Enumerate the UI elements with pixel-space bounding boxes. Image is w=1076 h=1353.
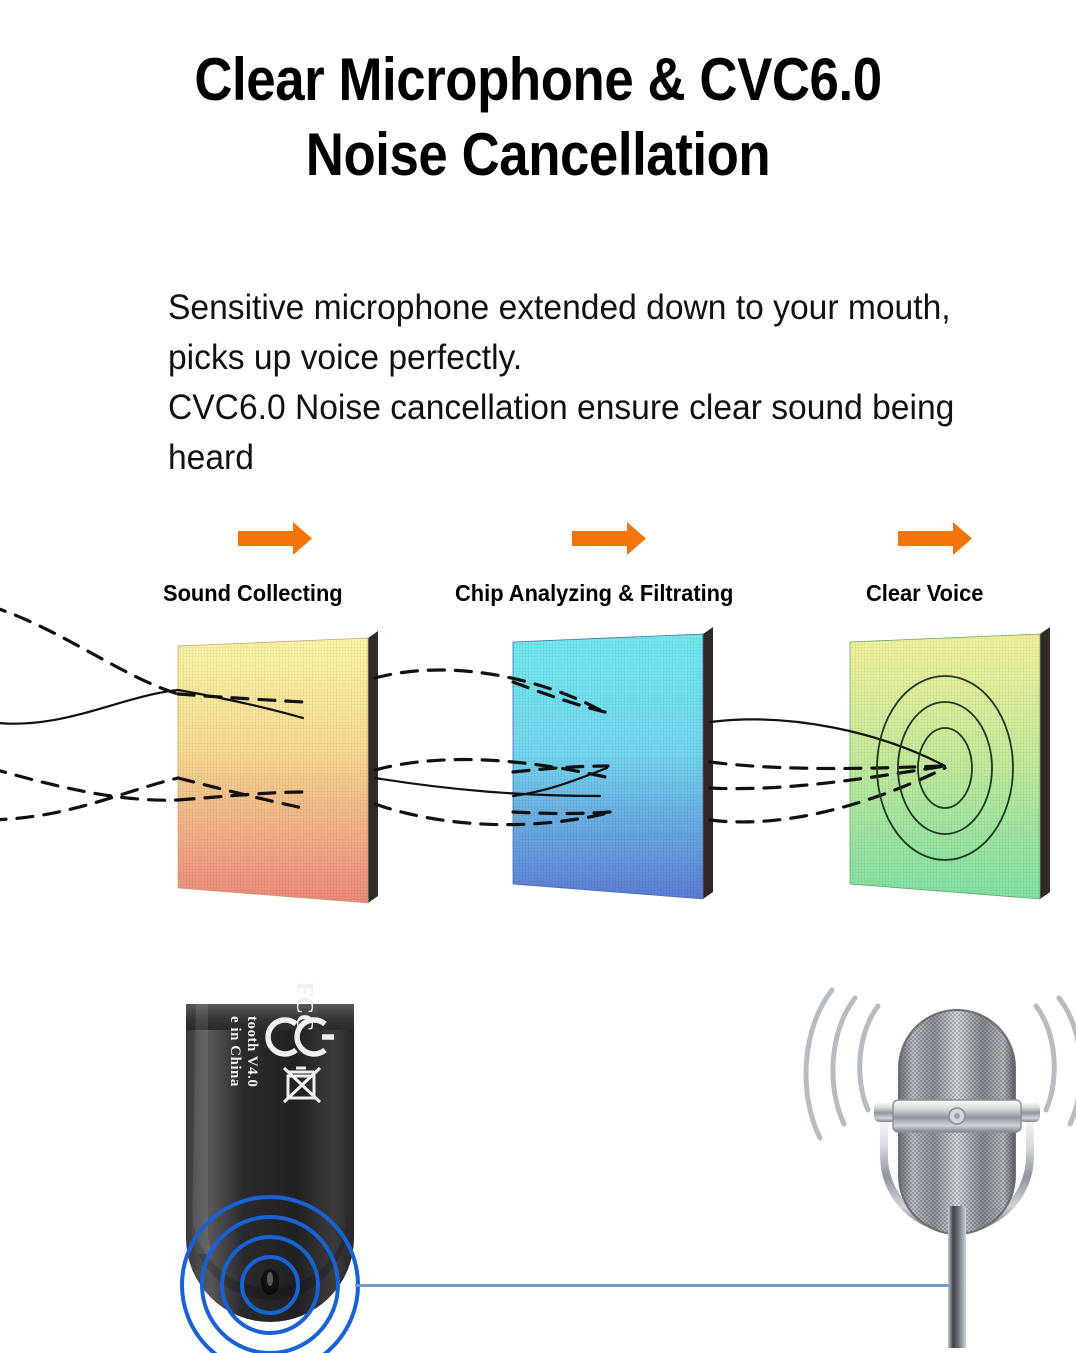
device-origin: e in China	[226, 1016, 243, 1087]
page-title: Clear Microphone & CVC6.0 Noise Cancella…	[65, 42, 1012, 192]
weee-bin-icon	[284, 1068, 320, 1102]
arrow-right-icon	[238, 522, 312, 555]
sound-arc-icon	[806, 990, 878, 1138]
connector-line	[355, 1284, 950, 1287]
infographic-page: Clear Microphone & CVC6.0 Noise Cancella…	[0, 0, 1076, 1353]
panel-clear-voice	[850, 627, 1050, 899]
sound-arc-icon	[1036, 998, 1076, 1124]
process-flow-diagram	[0, 500, 1076, 930]
step-label-sound-collecting: Sound Collecting	[163, 580, 343, 606]
sound-waves-incoming	[0, 606, 178, 820]
panel-sound-collecting	[178, 631, 378, 903]
bottom-scene: FCC	[0, 960, 1076, 1353]
vintage-microphone	[806, 990, 1076, 1348]
microphone-stem	[948, 1206, 966, 1348]
arrow-right-icon	[572, 522, 646, 555]
device-mic-hole	[261, 1269, 279, 1295]
panel-chip-analyzing	[513, 627, 713, 899]
step-label-chip-analyzing: Chip Analyzing & Filtrating	[455, 580, 733, 606]
microphone-band	[893, 1100, 1021, 1132]
description-text: Sensitive microphone extended down to yo…	[168, 283, 994, 483]
step-label-clear-voice: Clear Voice	[866, 580, 983, 606]
device-bluetooth-version: tooth V4.0	[243, 1016, 260, 1087]
arrow-right-icon	[898, 522, 972, 555]
